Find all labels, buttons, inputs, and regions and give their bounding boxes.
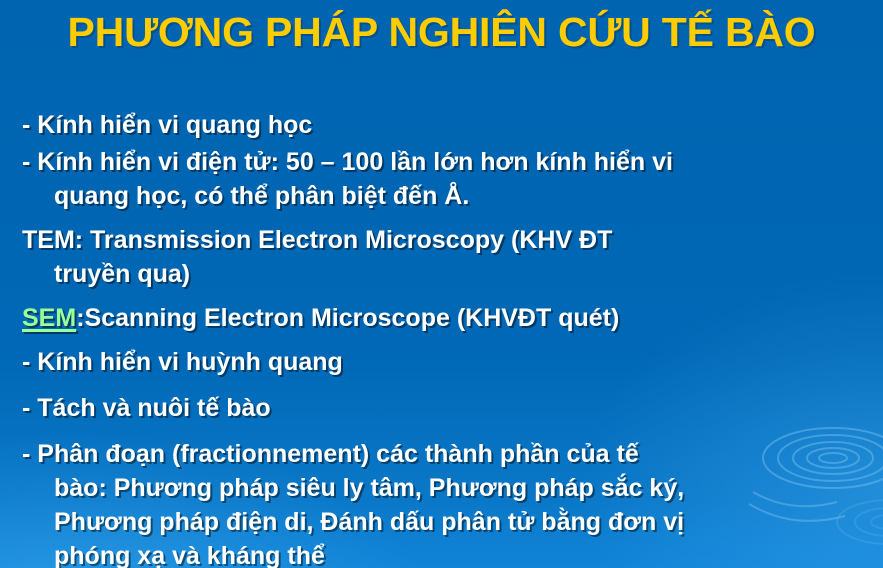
slide-canvas: PHƯƠNG PHÁP NGHIÊN CỨU TẾ BÀO - Kính hiể… [0,0,883,568]
body-line-7: - Kính hiển vi huỳnh quang [22,345,867,379]
spacer [22,213,867,223]
spacer [22,379,867,391]
body-line-11: Phương pháp điện di, Đánh dấu phân tử bằ… [22,505,867,539]
body-line-1: - Kính hiển vi quang học [22,108,867,142]
body-line-9: - Phân đoạn (fractionnement) các thành p… [22,437,867,471]
slide-body: - Kính hiển vi quang học - Kính hiển vi … [22,108,867,568]
body-line-8: - Tách và nuôi tế bào [22,391,867,425]
body-line-10: bào: Phương pháp siêu ly tâm, Phương phá… [22,471,867,505]
sem-hyperlink[interactable]: SEM [22,304,76,332]
body-line-12: phóng xạ và kháng thể [22,539,867,568]
body-line-5: truyền qua) [22,257,867,291]
spacer [22,425,867,437]
sem-line-rest: :Scanning Electron Microscope (KHVĐT qué… [76,304,619,332]
spacer [22,335,867,345]
body-line-6-sem: SEM:Scanning Electron Microscope (KHVĐT … [22,301,867,335]
spacer [22,291,867,301]
body-line-2: - Kính hiển vi điện tử: 50 – 100 lần lớn… [22,145,867,179]
body-line-3: quang học, có thể phân biệt đến Å. [22,179,867,213]
body-line-4-tem: TEM: Transmission Electron Microscopy (K… [22,223,867,257]
slide-title: PHƯƠNG PHÁP NGHIÊN CỨU TẾ BÀO [0,2,883,62]
